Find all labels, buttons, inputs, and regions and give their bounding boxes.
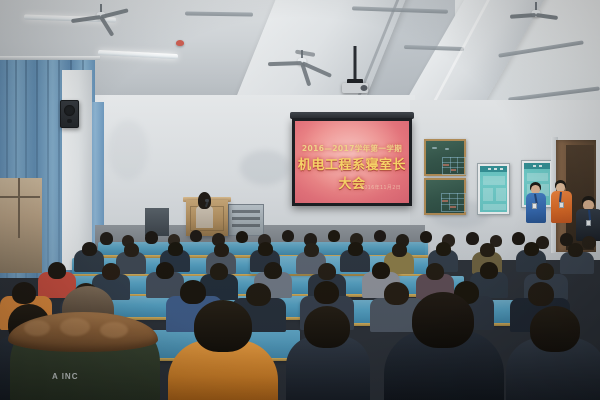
curtain-fold <box>58 58 60 278</box>
audience-head <box>524 242 539 256</box>
audience-head <box>466 232 479 245</box>
av-slot <box>232 224 260 227</box>
id-badge <box>559 202 564 208</box>
audience-head <box>318 263 336 280</box>
audience-head <box>348 242 363 256</box>
chalk-line <box>441 198 464 199</box>
jacket-text: A INC <box>52 372 78 381</box>
poster-header-bar <box>524 163 550 169</box>
audience-head <box>480 262 498 279</box>
projection-screen: 2016—2017学年第一学期 机电工程系寝室长大会 2016年11月2日 <box>295 121 409 203</box>
audience-head <box>582 236 596 249</box>
poster-text-block <box>483 204 506 210</box>
microphone-head-icon <box>205 199 209 202</box>
audience-head-front <box>194 300 252 352</box>
audience-head <box>426 263 444 280</box>
audience-head <box>214 243 229 257</box>
chalk-highlight <box>450 206 456 208</box>
audience-head-front <box>412 292 474 348</box>
curtain-fold <box>47 58 49 278</box>
audience-head <box>258 242 273 256</box>
audience-head <box>282 230 294 242</box>
poster-text-block <box>496 188 506 201</box>
id-badge <box>586 220 591 226</box>
audience-head <box>180 280 206 304</box>
poster-dot <box>533 165 536 167</box>
slide-date: 2016年11月2日 <box>361 184 401 191</box>
audience-head <box>102 263 120 280</box>
poster-dot <box>494 168 497 170</box>
audience-head <box>304 243 319 257</box>
audience-head <box>420 231 432 243</box>
window-frame-bar <box>18 178 20 238</box>
chalk-writing <box>432 147 437 149</box>
blackboard-upper <box>424 139 466 176</box>
presenter-body <box>196 206 213 228</box>
speaker-tweeter-icon <box>67 119 72 123</box>
audience-head <box>156 262 174 279</box>
audience-head <box>100 232 113 245</box>
audience-head <box>82 242 97 256</box>
chalk-line <box>442 162 464 163</box>
slide-subtitle: 2016—2017学年第一学期 <box>295 143 409 154</box>
audience-head <box>264 262 282 279</box>
chalk-line <box>457 193 458 210</box>
chalk-highlight <box>442 200 448 202</box>
audience-head <box>124 243 139 257</box>
projector-lens-icon <box>361 85 368 91</box>
audience-head <box>314 281 339 304</box>
lecture-hall-photo: 2016—2017学年第一学期 机电工程系寝室长大会 2016年11月2日 <box>0 0 600 400</box>
audience-head <box>392 243 407 257</box>
audience-head <box>12 282 36 304</box>
chalk-line <box>457 157 458 173</box>
audience-head <box>328 230 340 242</box>
audience-head <box>48 262 66 279</box>
chalk-line <box>441 204 464 205</box>
audience-head-front <box>304 306 350 348</box>
audience-head <box>190 230 202 242</box>
audience-head <box>568 243 583 257</box>
poster-dot <box>488 168 491 170</box>
poster-dot <box>500 168 503 170</box>
audience-head-front <box>530 306 580 352</box>
audience-head <box>372 262 390 279</box>
window-frame-bar <box>0 196 40 198</box>
audience-head <box>480 243 495 257</box>
smoke-detector-icon <box>176 40 184 46</box>
chalk-highlight <box>443 164 449 166</box>
audience-head <box>246 283 271 306</box>
blackboard-lower <box>424 178 466 215</box>
wall-stain <box>108 120 148 180</box>
curtain-rod <box>0 56 100 60</box>
av-slot <box>232 210 260 213</box>
speaker-cone-icon <box>64 105 75 116</box>
audience-head <box>528 282 554 306</box>
id-badge <box>532 203 537 209</box>
wall-stain <box>240 150 290 185</box>
audience-head <box>384 282 409 305</box>
poster-text-block <box>527 173 548 181</box>
audience-head <box>168 242 183 256</box>
window <box>0 178 42 273</box>
av-equipment-rack <box>228 204 264 236</box>
wall-poster <box>477 163 510 215</box>
chalk-highlight <box>451 169 456 171</box>
chalk-table <box>442 157 466 175</box>
audience-head <box>145 231 158 244</box>
audience-head <box>236 231 248 243</box>
chalk-line <box>442 167 464 168</box>
av-slot <box>232 217 260 220</box>
audience-head <box>436 242 451 256</box>
poster-dot <box>539 165 542 167</box>
audience-head <box>536 263 554 280</box>
fur-texture <box>100 322 128 338</box>
chalk-table <box>441 193 466 212</box>
audience-head <box>374 230 386 242</box>
audience-head <box>512 232 525 245</box>
poster-text-block <box>483 176 505 185</box>
wall-speaker <box>60 100 79 128</box>
poster-face <box>480 166 507 212</box>
audience-head <box>210 263 228 280</box>
chalk-writing <box>445 148 449 150</box>
fur-texture <box>24 320 50 336</box>
projector-rod <box>354 46 357 80</box>
fur-texture <box>60 318 90 336</box>
poster-text-block <box>483 188 493 201</box>
